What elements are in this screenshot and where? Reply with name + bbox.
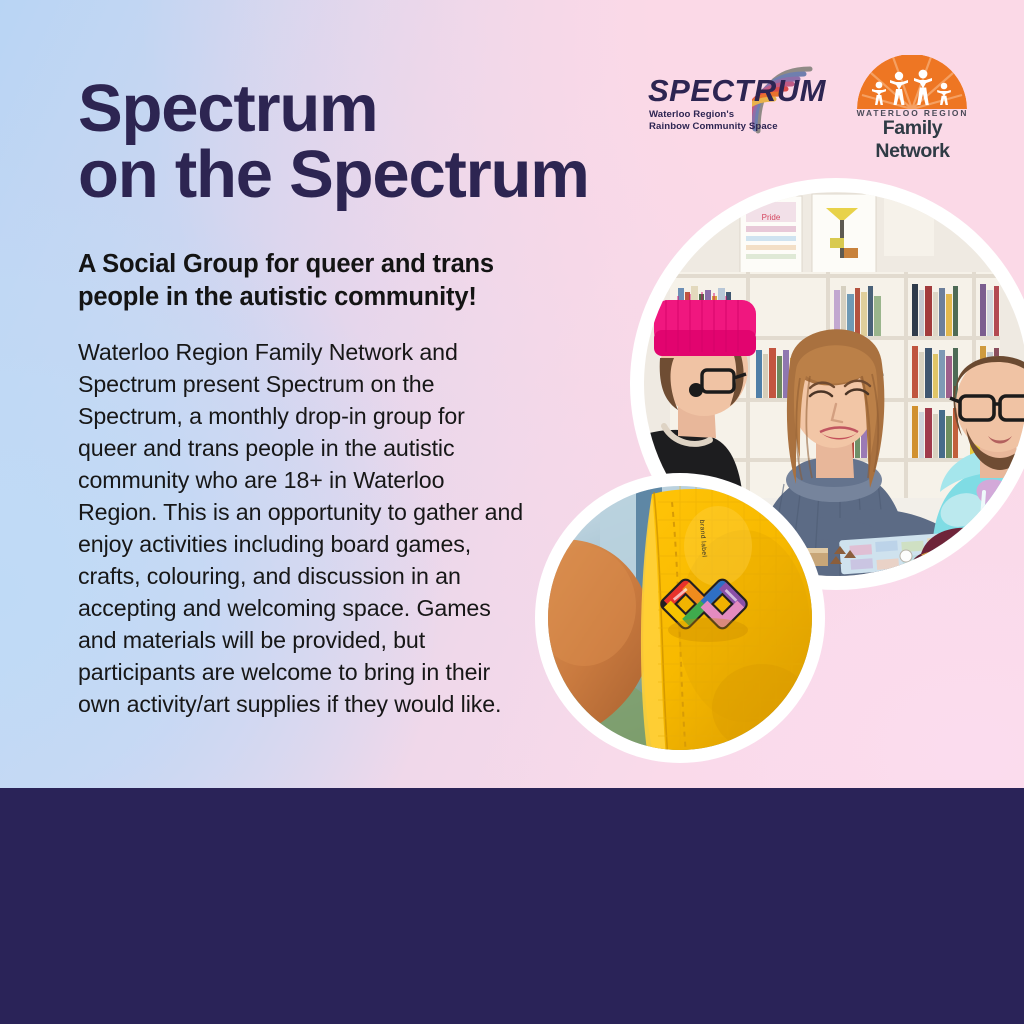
logo-group: SPECTRUM Waterloo Region's Rainbow Commu… bbox=[640, 55, 980, 145]
svg-text:Pride: Pride bbox=[762, 213, 781, 222]
spectrum-wordmark: SPECTRUM bbox=[648, 73, 826, 109]
footer-bar: Join us on the 4th Thursday of every mon… bbox=[0, 788, 1024, 1024]
spectrum-logo: SPECTRUM Waterloo Region's Rainbow Commu… bbox=[640, 73, 815, 143]
spectrum-tagline-line-1: Waterloo Region's bbox=[649, 109, 778, 121]
title-line-1: Spectrum bbox=[78, 71, 377, 146]
spectrum-tagline-line-2: Rainbow Community Space bbox=[649, 121, 778, 133]
spectrum-tagline: Waterloo Region's Rainbow Community Spac… bbox=[649, 109, 778, 133]
photo-rainbow-infinity-pin: brand label bbox=[548, 486, 812, 750]
family-network-logo: WATERLOO REGION Family Network bbox=[845, 55, 980, 140]
page-title: Spectrum on the Spectrum bbox=[78, 76, 688, 209]
body-paragraph: Waterloo Region Family Network and Spect… bbox=[78, 336, 526, 720]
subheading: A Social Group for queer and trans peopl… bbox=[78, 248, 548, 314]
title-line-2: on the Spectrum bbox=[78, 142, 688, 208]
sunburst-people-icon bbox=[857, 55, 967, 114]
family-network-name: Family Network bbox=[845, 117, 980, 163]
poster-root: Spectrum on the Spectrum A Social Group … bbox=[0, 0, 1024, 1024]
